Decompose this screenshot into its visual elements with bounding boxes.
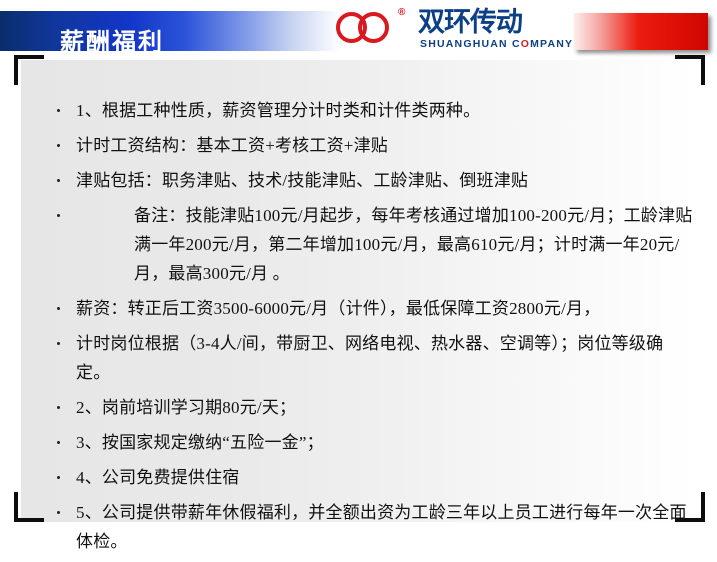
slide-root: 薪酬福利 ® 双环传动 SHUANGHUAN COMPANY 1、根据工种性质，… [0, 0, 717, 539]
bullet-text: 3、按国家规定缴纳“五险一金”； [76, 433, 324, 452]
bullet-dot-icon [57, 342, 60, 345]
company-logo: ® 双环传动 SHUANGHUAN COMPANY [336, 8, 576, 54]
content-panel: 1、根据工种性质，薪资管理分计时类和计件类两种。计时工资结构：基本工资+考核工资… [21, 60, 696, 522]
registered-trademark-icon: ® [398, 7, 405, 18]
logo-english-name: SHUANGHUAN COMPANY [420, 38, 573, 50]
bullet-item: 4、公司免费提供住宿 [33, 463, 693, 492]
bullet-text: 津贴包括：职务津贴、技术/技能津贴、工龄津贴、倒班津贴 [76, 171, 528, 190]
ring-right-icon [358, 12, 389, 43]
bullet-item: 计时工资结构：基本工资+考核工资+津贴 [33, 131, 693, 160]
bullet-text: 4、公司免费提供住宿 [76, 468, 240, 487]
bullet-dot-icon [57, 109, 60, 112]
bullet-item: 5、公司提供带薪年休假福利，并全额出资为工龄三年以上员工进行每年一次全面体检。 [33, 498, 693, 556]
bullet-item: 备注：技能津贴100元/月起步，每年考核通过增加100-200元/月；工龄津贴满… [33, 201, 693, 288]
bullet-item: 计时岗位根据（3-4人/间，带厨卫、网络电视、热水器、空调等）；岗位等级确定。 [33, 329, 693, 387]
logo-chinese-name: 双环传动 [418, 8, 522, 38]
logo-english-suffix: MPANY [530, 38, 573, 50]
bullet-dot-icon [57, 307, 60, 310]
bullet-dot-icon [57, 441, 60, 444]
bullet-item: 薪资：转正后工资3500-6000元/月（计件），最低保障工资2800元/月， [33, 294, 693, 323]
bullet-item: 1、根据工种性质，薪资管理分计时类和计件类两种。 [33, 96, 693, 125]
bullet-text: 薪资：转正后工资3500-6000元/月（计件），最低保障工资2800元/月， [76, 299, 600, 318]
benefits-bullet-list: 1、根据工种性质，薪资管理分计时类和计件类两种。计时工资结构：基本工资+考核工资… [33, 96, 693, 562]
logo-english-prefix: SHUANGHUAN C [420, 38, 521, 50]
bullet-dot-icon [57, 511, 60, 514]
slide-header: 薪酬福利 ® 双环传动 SHUANGHUAN COMPANY [0, 0, 717, 58]
bullet-dot-icon [57, 406, 60, 409]
bullet-text: 计时工资结构：基本工资+考核工资+津贴 [76, 136, 388, 155]
red-accent-block [574, 13, 708, 50]
bullet-item: 津贴包括：职务津贴、技术/技能津贴、工龄津贴、倒班津贴 [33, 166, 693, 195]
bullet-text: 2、岗前培训学习期80元/天； [76, 398, 296, 417]
bullet-item: 2、岗前培训学习期80元/天； [33, 393, 693, 422]
page-title: 薪酬福利 [60, 23, 164, 61]
title-banner: 薪酬福利 [0, 11, 340, 51]
bullet-text: 计时岗位根据（3-4人/间，带厨卫、网络电视、热水器、空调等）；岗位等级确定。 [76, 334, 663, 382]
bullet-dot-icon [57, 179, 60, 182]
bullet-text: 备注：技能津贴100元/月起步，每年考核通过增加100-200元/月；工龄津贴满… [76, 201, 693, 288]
bullet-item: 3、按国家规定缴纳“五险一金”； [33, 428, 693, 457]
bullet-text: 1、根据工种性质，薪资管理分计时类和计件类两种。 [76, 101, 480, 120]
bullet-text: 5、公司提供带薪年休假福利，并全额出资为工龄三年以上员工进行每年一次全面体检。 [76, 503, 687, 551]
bullet-dot-icon [57, 214, 60, 217]
bullet-dot-icon [57, 144, 60, 147]
bullet-dot-icon [57, 476, 60, 479]
logo-english-red-letter: O [521, 38, 530, 50]
